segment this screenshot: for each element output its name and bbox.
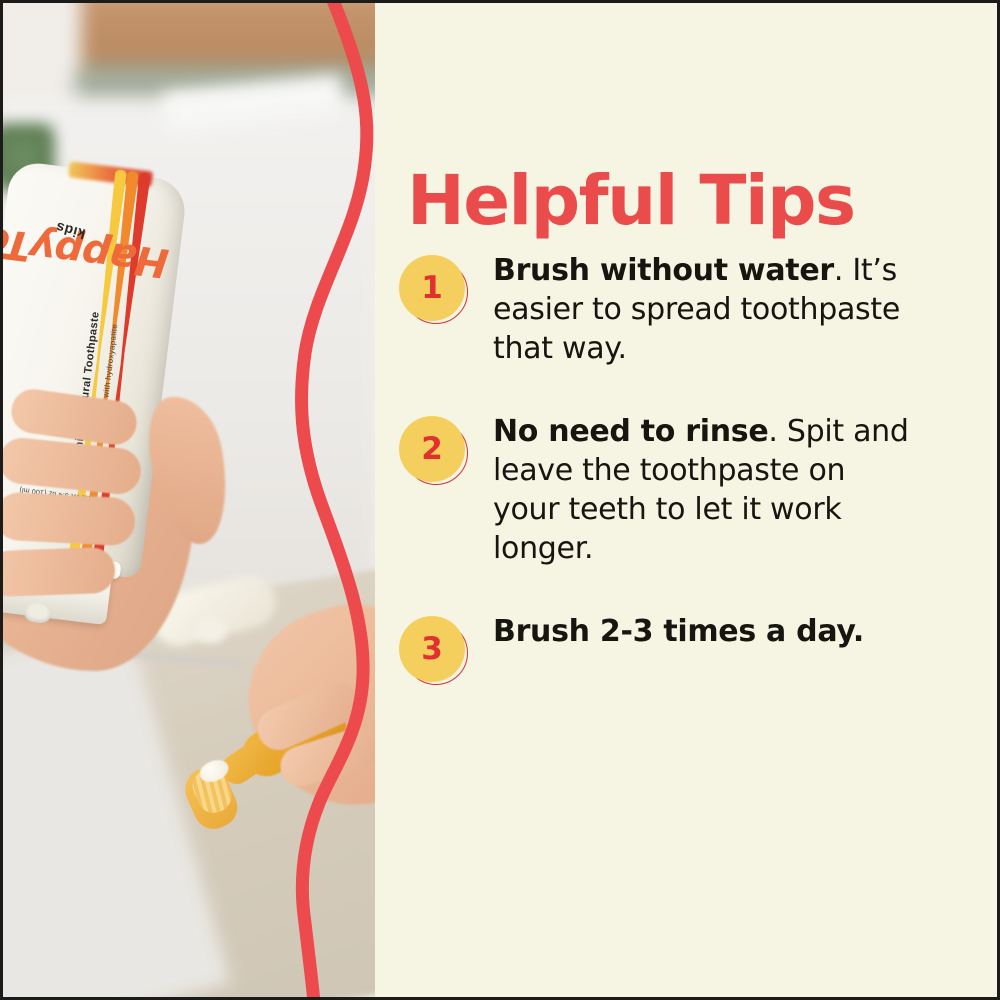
- tip-text-3: Brush 2-3 times a day.: [493, 612, 913, 651]
- product-photo-panel: HappyTooth kids Premium Natural Toothpas…: [3, 3, 375, 1000]
- tip-lead-1: Brush without water: [493, 253, 834, 288]
- tip-lead-3: Brush 2-3 times a day.: [493, 614, 864, 649]
- tip-number-badge-3: 3: [399, 616, 465, 682]
- badge-number: 1: [399, 255, 465, 321]
- finger: [3, 491, 136, 546]
- tip-item-3: 3 Brush 2-3 times a day.: [399, 612, 979, 682]
- background-tube-cap: [195, 617, 227, 643]
- tip-text-1: Brush without water. It’s easier to spre…: [493, 251, 913, 368]
- tip-item-2: 2 No need to rinse. Spit and leave the t…: [399, 412, 979, 568]
- tips-list: 1 Brush without water. It’s easier to sp…: [399, 251, 979, 726]
- badge-number: 3: [399, 616, 465, 682]
- tip-item-1: 1 Brush without water. It’s easier to sp…: [399, 251, 979, 368]
- photo-scene: HappyTooth kids Premium Natural Toothpas…: [3, 3, 375, 1000]
- tip-number-badge-1: 1: [399, 255, 465, 321]
- tip-lead-2: No need to rinse: [493, 414, 768, 449]
- tip-number-badge-2: 2: [399, 416, 465, 482]
- tips-content: Helpful Tips 1 Brush without water. It’s…: [399, 3, 979, 1000]
- finger: [3, 547, 116, 597]
- badge-number: 2: [399, 416, 465, 482]
- page-title: Helpful Tips: [407, 161, 855, 241]
- tip-text-2: No need to rinse. Spit and leave the too…: [493, 412, 913, 568]
- infographic-canvas: HappyTooth kids Premium Natural Toothpas…: [0, 0, 1000, 1000]
- background-wood-board: [81, 3, 375, 81]
